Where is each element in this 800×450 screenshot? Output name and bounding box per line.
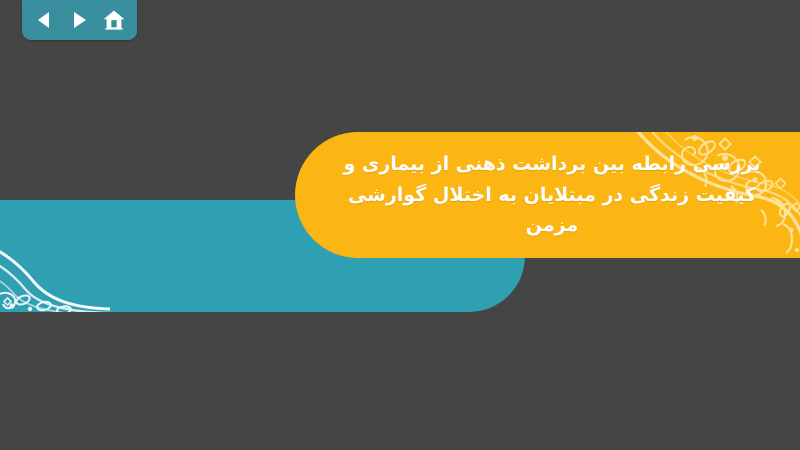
home-slide-button[interactable] (100, 6, 128, 34)
navigation-toolbar (22, 0, 137, 40)
slide-title: بررسی رابطه بین برداشت ذهنی از بیماری و … (325, 149, 780, 241)
title-band: بررسی رابطه بین برداشت ذهنی از بیماری و … (295, 132, 800, 258)
slide-viewer: بررسی رابطه بین برداشت ذهنی از بیماری و … (0, 0, 800, 450)
triangle-right-icon (69, 10, 89, 30)
home-icon (102, 8, 126, 32)
previous-slide-button[interactable] (31, 6, 59, 34)
arabesque-ornament-icon (0, 220, 110, 312)
triangle-left-icon (35, 10, 55, 30)
next-slide-button[interactable] (65, 6, 93, 34)
